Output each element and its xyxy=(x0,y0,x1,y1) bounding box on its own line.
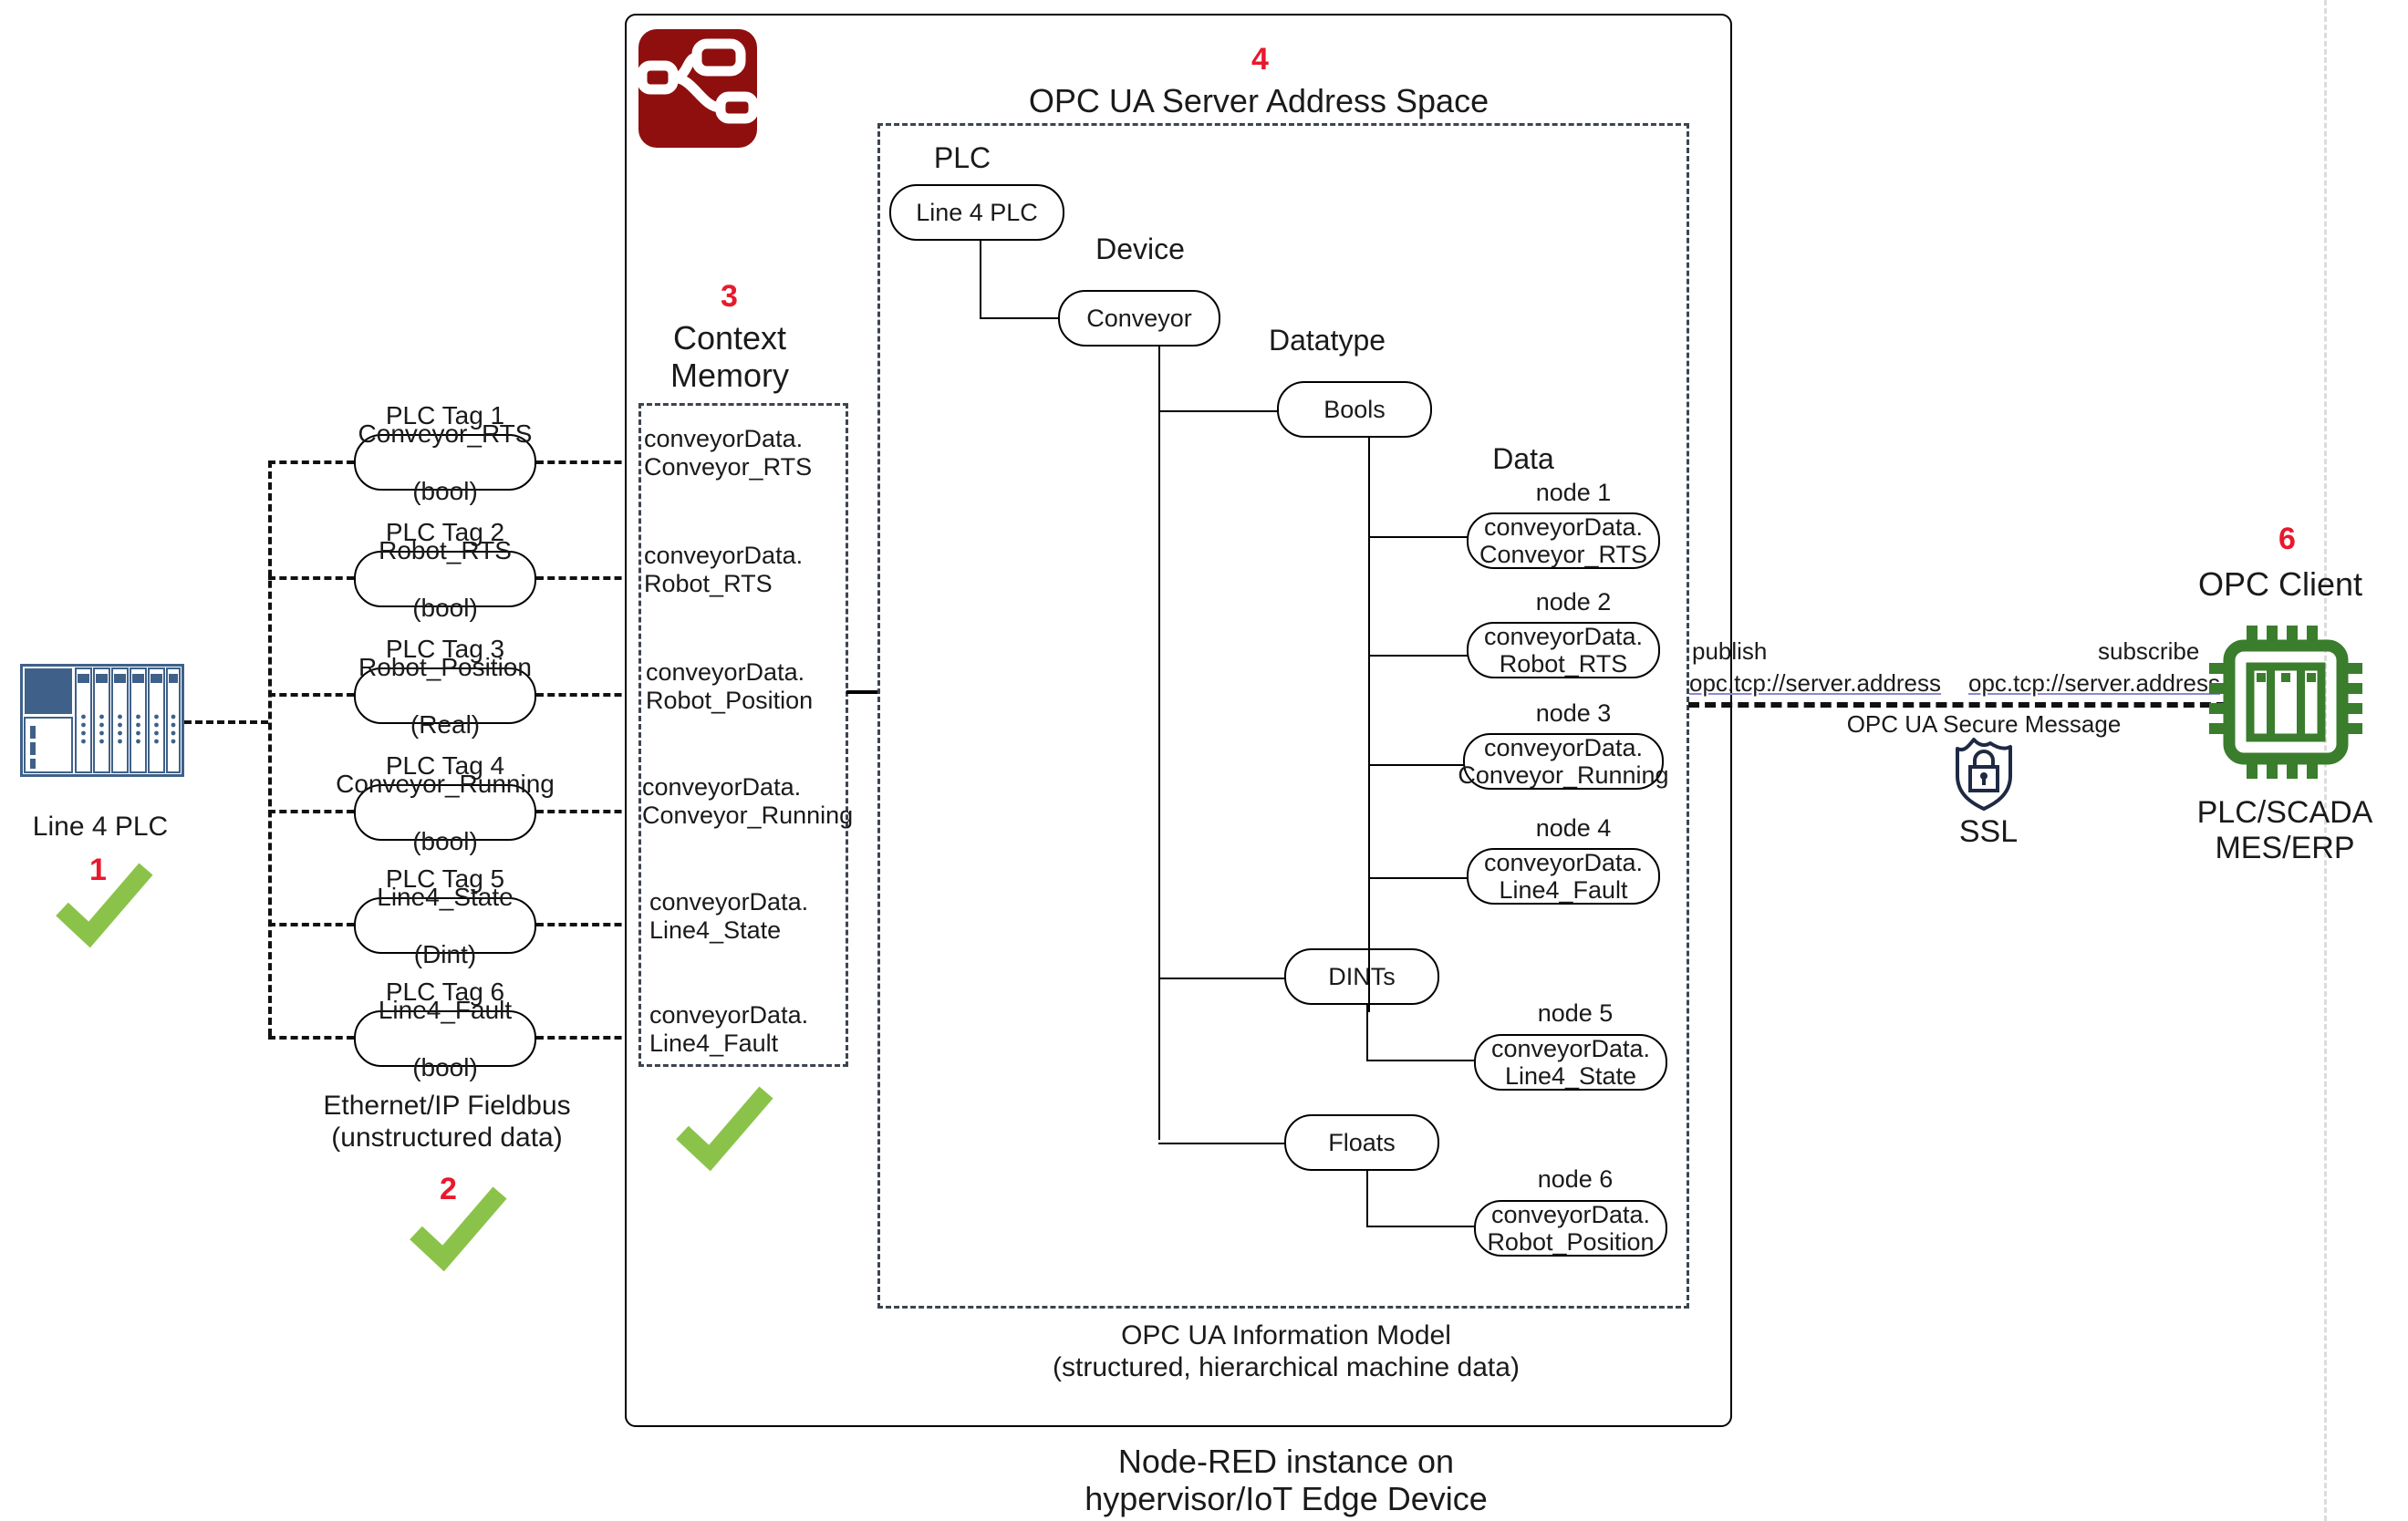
address-node-floats-label: Floats xyxy=(1328,1129,1396,1156)
context-memory-entry-5: conveyorData. Line4_State xyxy=(638,888,846,945)
tree-line-device-dints xyxy=(1158,978,1284,979)
ssl-label: SSL xyxy=(1915,814,2061,850)
publish-subscribe-link-line xyxy=(1688,702,2227,708)
tree-line-plc-device-h xyxy=(980,317,1060,319)
context-to-addressspace-connector xyxy=(846,690,877,694)
tree-line-bools-spine xyxy=(1368,438,1370,1012)
data-node-3-caption: node 3 xyxy=(1478,699,1669,728)
tree-line-device-bools xyxy=(1158,410,1284,412)
tree-line-floats-h xyxy=(1366,1226,1479,1227)
fieldbus-spine xyxy=(268,460,272,1036)
node-red-caption: Node-RED instance on hypervisor/IoT Edge… xyxy=(912,1443,1660,1518)
address-node-floats[interactable]: Floats xyxy=(1284,1114,1439,1171)
address-node-device[interactable]: Conveyor xyxy=(1058,290,1220,347)
data-node-4[interactable]: conveyorData. Line4_Fault xyxy=(1467,848,1660,905)
data-node-4-caption: node 4 xyxy=(1478,814,1669,843)
plc-tag-2-name: Robot_RTS xyxy=(379,536,512,564)
fieldbus-branch-3 xyxy=(268,693,354,697)
address-node-plc-label: Line 4 PLC xyxy=(916,199,1038,226)
checkmark-2-icon xyxy=(409,1185,509,1272)
address-node-device-label: Conveyor xyxy=(1086,305,1192,332)
address-node-bools[interactable]: Bools xyxy=(1277,381,1432,438)
plc-tag-6-node[interactable]: Line4_Fault(bool) xyxy=(354,1010,536,1067)
tree-line-dints-v xyxy=(1366,1005,1368,1061)
opc-client-title: OPC Client xyxy=(2153,565,2408,603)
checkmark-3-icon xyxy=(675,1085,775,1172)
plc-tag-4-name: Conveyor_Running xyxy=(336,770,555,798)
level-label-datatype: Datatype xyxy=(1240,324,1414,357)
data-node-3-label: conveyorData. Conveyor_Running xyxy=(1458,734,1668,789)
plc-tag-3-name: Robot_Position xyxy=(358,653,532,681)
data-node-2[interactable]: conveyorData. Robot_RTS xyxy=(1467,622,1660,678)
context-memory-entry-3: conveyorData. Robot_Position xyxy=(638,658,846,715)
opc-client-subtitle: PLC/SCADA MES/ERP xyxy=(2153,795,2408,866)
data-node-1[interactable]: conveyorData. Conveyor_RTS xyxy=(1467,512,1660,569)
data-node-3[interactable]: conveyorData. Conveyor_Running xyxy=(1463,733,1664,790)
plc-tag-5-node[interactable]: Line4_State(Dint) xyxy=(354,897,536,954)
data-node-2-caption: node 2 xyxy=(1478,588,1669,616)
context-memory-entry-2: conveyorData. Robot_RTS xyxy=(638,542,846,598)
fieldbus-trunk xyxy=(184,720,268,724)
address-node-dints[interactable]: DINTs xyxy=(1284,948,1439,1005)
publish-label: publish xyxy=(1692,638,1838,666)
plc-tag-2-node[interactable]: Robot_RTS(bool) xyxy=(354,551,536,607)
level-label-device: Device xyxy=(1076,233,1204,266)
fieldbus-branch-5 xyxy=(268,923,354,926)
address-node-dints-label: DINTs xyxy=(1328,963,1396,990)
marker-3: 3 xyxy=(721,279,738,315)
data-node-2-label: conveyorData. Robot_RTS xyxy=(1484,623,1643,678)
plc-tag-4-type: (bool) xyxy=(336,827,555,855)
data-node-5[interactable]: conveyorData. Line4_State xyxy=(1474,1034,1667,1091)
plc-source-label: Line 4 PLC xyxy=(0,812,201,843)
plc-tag-3-type: (Real) xyxy=(358,710,532,739)
context-memory-entry-1: conveyorData. Conveyor_RTS xyxy=(638,425,846,481)
plc-tag-6-name: Line4_Fault xyxy=(379,996,512,1024)
subscribe-url[interactable]: opc.tcp://server.address xyxy=(1968,670,2233,698)
context-memory-entry-6: conveyorData. Line4_Fault xyxy=(638,1001,846,1058)
fieldbus-branch-1 xyxy=(268,460,354,464)
data-node-4-label: conveyorData. Line4_Fault xyxy=(1484,849,1643,904)
address-space-footer: OPC UA Information Model (structured, hi… xyxy=(912,1320,1660,1383)
plc-tag-1-node[interactable]: Conveyor_RTS(bool) xyxy=(354,434,536,491)
fieldbus-caption: Ethernet/IP Fieldbus (unstructured data) xyxy=(290,1091,604,1154)
tree-line-floats-v xyxy=(1366,1171,1368,1227)
data-node-6-caption: node 6 xyxy=(1479,1165,1671,1194)
plc-rack-icon xyxy=(20,664,184,777)
plc-tag-3-node[interactable]: Robot_Position(Real) xyxy=(354,667,536,724)
plc-tag-5-name: Line4_State xyxy=(377,883,513,911)
fieldbus-branch-6 xyxy=(268,1036,354,1040)
plc-tag-2-type: (bool) xyxy=(379,594,512,622)
shield-lock-icon xyxy=(1952,734,2018,812)
level-label-data: Data xyxy=(1459,442,1587,476)
tree-line-device-spine xyxy=(1158,347,1160,1140)
marker-4: 4 xyxy=(1251,42,1269,78)
address-node-plc[interactable]: Line 4 PLC xyxy=(889,184,1064,241)
data-node-1-label: conveyorData. Conveyor_RTS xyxy=(1479,513,1647,568)
plc-tag-4-node[interactable]: Conveyor_Running(bool) xyxy=(354,784,536,841)
context-memory-title: Context Memory xyxy=(629,319,830,395)
address-node-bools-label: Bools xyxy=(1323,396,1386,423)
plc-tag-1-name: Conveyor_RTS xyxy=(358,419,533,448)
tree-line-plc-device-v xyxy=(980,241,981,319)
tree-line-dints-h xyxy=(1366,1060,1479,1061)
node-red-logo xyxy=(638,29,757,148)
plc-tag-1-type: (bool) xyxy=(358,477,533,505)
data-node-1-caption: node 1 xyxy=(1478,479,1669,507)
level-label-plc: PLC xyxy=(912,141,1012,175)
checkmark-1-icon xyxy=(55,862,155,948)
publish-url[interactable]: opc.tcp://server.address xyxy=(1689,670,1954,698)
tree-line-device-floats xyxy=(1158,1143,1284,1144)
cpu-chip-icon xyxy=(2209,626,2362,779)
data-node-6[interactable]: conveyorData. Robot_Position xyxy=(1474,1200,1667,1257)
data-node-5-label: conveyorData. Line4_State xyxy=(1491,1035,1650,1090)
address-space-title: OPC UA Server Address Space xyxy=(912,82,1605,119)
data-node-6-label: conveyorData. Robot_Position xyxy=(1487,1201,1654,1256)
plc-tag-6-type: (bool) xyxy=(379,1053,512,1081)
fieldbus-branch-2 xyxy=(268,576,354,580)
plc-tag-5-type: (Dint) xyxy=(377,940,513,968)
context-memory-box xyxy=(638,403,848,1067)
marker-6: 6 xyxy=(2278,522,2296,557)
context-memory-entry-4: conveyorData. Conveyor_Running xyxy=(637,773,850,830)
data-node-5-caption: node 5 xyxy=(1479,999,1671,1028)
